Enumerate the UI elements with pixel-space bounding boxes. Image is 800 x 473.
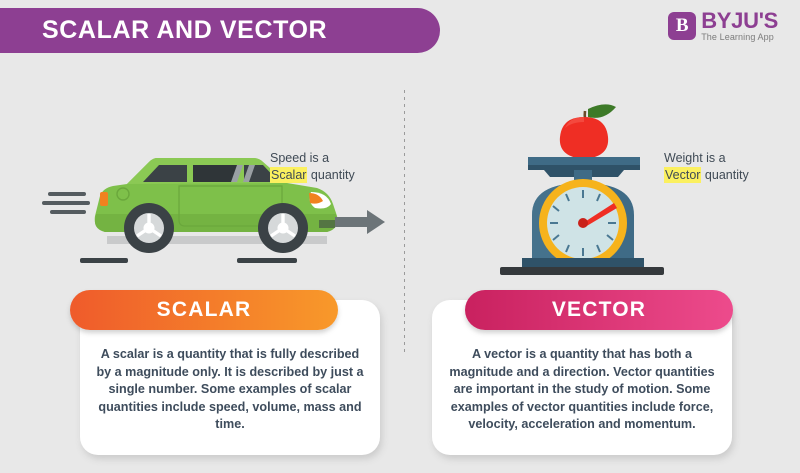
ground-dash-right: [237, 258, 297, 263]
scalar-pill-label: SCALAR: [157, 298, 252, 322]
callout-line-1: Weight is a: [664, 150, 749, 167]
logo-b-glyph: B: [668, 12, 696, 40]
byjus-b-logo-icon: B: [668, 12, 696, 40]
logo-tagline: The Learning App: [701, 31, 778, 43]
weighing-scale-illustration: [470, 95, 680, 275]
scalar-definition-text: A scalar is a quantity that is fully des…: [94, 346, 366, 434]
vector-definition-text: A vector is a quantity that has both a m…: [446, 346, 718, 434]
callout-weight-vector: Weight is a Vector quantity: [664, 150, 749, 184]
callout-line-2: Vector quantity: [664, 167, 749, 184]
callout-line-2: Scalar quantity: [270, 167, 355, 184]
header-banner: SCALAR AND VECTOR: [0, 8, 440, 53]
logo-text-group: BYJU'S The Learning App: [701, 10, 778, 43]
callout-suffix: quantity: [307, 168, 354, 182]
callout-highlight: Scalar: [270, 167, 307, 183]
ground-dash-left: [80, 258, 128, 263]
callout-highlight: Vector: [664, 167, 701, 183]
vector-pill-header: VECTOR: [465, 290, 733, 330]
scalar-definition-card: SCALAR A scalar is a quantity that is fu…: [80, 300, 380, 455]
page-title: SCALAR AND VECTOR: [0, 16, 327, 45]
brand-logo: B BYJU'S The Learning App: [668, 10, 778, 43]
scale-body-icon: [470, 95, 680, 275]
scalar-pill-header: SCALAR: [70, 290, 338, 330]
callout-speed-scalar: Speed is a Scalar quantity: [270, 150, 355, 184]
logo-brand-name: BYJU'S: [701, 10, 778, 31]
vector-pill-label: VECTOR: [552, 298, 646, 322]
direction-arrow-icon: [335, 208, 387, 236]
speed-lines-icon: [48, 192, 90, 219]
callout-suffix: quantity: [701, 168, 748, 182]
callout-line-1: Speed is a: [270, 150, 355, 167]
vertical-divider: [404, 90, 405, 356]
vector-definition-card: VECTOR A vector is a quantity that has b…: [432, 300, 732, 455]
